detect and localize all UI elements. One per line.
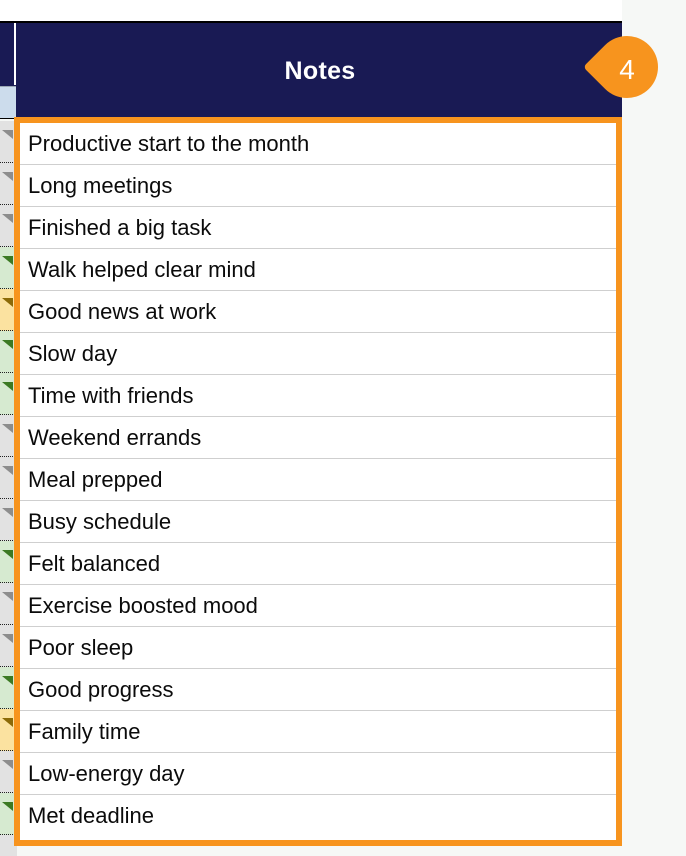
- spreadsheet-view: Notes Productive start to the monthLong …: [0, 0, 686, 856]
- note-cell-text: Weekend errands: [20, 425, 201, 451]
- note-cell-text: Walk helped clear mind: [20, 257, 256, 283]
- table-row[interactable]: Time with friends: [20, 375, 616, 417]
- arrow-down-right-icon: [2, 298, 13, 307]
- note-cell-text: Felt balanced: [20, 551, 160, 577]
- arrow-down-right-icon: [2, 592, 13, 601]
- arrow-down-right-icon: [2, 466, 13, 475]
- arrow-down-right-icon: [2, 382, 13, 391]
- arrow-down-right-icon: [2, 130, 13, 139]
- note-cell-text: Good progress: [20, 677, 174, 703]
- arrow-down-right-icon: [2, 718, 13, 727]
- arrow-down-right-icon: [2, 550, 13, 559]
- note-cell-text: Good news at work: [20, 299, 216, 325]
- note-cell-text: Productive start to the month: [20, 131, 309, 157]
- table-row[interactable]: Slow day: [20, 333, 616, 375]
- note-cell-text: Busy schedule: [20, 509, 171, 535]
- step-marker-badge[interactable]: 4: [596, 36, 658, 114]
- note-cell-text: Slow day: [20, 341, 117, 367]
- arrow-down-right-icon: [2, 340, 13, 349]
- note-cell-text: Time with friends: [20, 383, 193, 409]
- top-blank-strip: [0, 0, 622, 21]
- table-row[interactable]: Productive start to the month: [20, 123, 616, 165]
- step-marker-label: 4: [596, 42, 658, 98]
- arrow-down-right-icon: [2, 802, 13, 811]
- note-cell-text: Family time: [20, 719, 140, 745]
- arrow-down-right-icon: [2, 508, 13, 517]
- note-cell-text: Low-energy day: [20, 761, 185, 787]
- arrow-down-right-icon: [2, 676, 13, 685]
- arrow-down-right-icon: [2, 172, 13, 181]
- note-cell-text: Met deadline: [20, 803, 154, 829]
- table-row[interactable]: Long meetings: [20, 165, 616, 207]
- row-header-selected-cell[interactable]: [0, 86, 16, 119]
- table-row[interactable]: Exercise boosted mood: [20, 585, 616, 627]
- table-row[interactable]: Meal prepped: [20, 459, 616, 501]
- note-cell-text: Exercise boosted mood: [20, 593, 258, 619]
- table-row[interactable]: Met deadline: [20, 795, 616, 837]
- table-row[interactable]: Good news at work: [20, 291, 616, 333]
- note-cell-text: Finished a big task: [20, 215, 211, 241]
- corner-header-cell[interactable]: [0, 23, 16, 85]
- table-row[interactable]: Finished a big task: [20, 207, 616, 249]
- table-row[interactable]: Family time: [20, 711, 616, 753]
- note-cell-text: Long meetings: [20, 173, 172, 199]
- arrow-down-right-icon: [2, 634, 13, 643]
- table-row[interactable]: Poor sleep: [20, 627, 616, 669]
- note-cell-text: Meal prepped: [20, 467, 163, 493]
- table-row[interactable]: Walk helped clear mind: [20, 249, 616, 291]
- table-row[interactable]: Low-energy day: [20, 753, 616, 795]
- table-row[interactable]: Good progress: [20, 669, 616, 711]
- notes-grid[interactable]: Productive start to the monthLong meetin…: [20, 123, 616, 840]
- table-row[interactable]: Busy schedule: [20, 501, 616, 543]
- arrow-down-right-icon: [2, 760, 13, 769]
- arrow-down-right-icon: [2, 256, 13, 265]
- table-row[interactable]: Weekend errands: [20, 417, 616, 459]
- arrow-down-right-icon: [2, 424, 13, 433]
- arrow-down-right-icon: [2, 214, 13, 223]
- notes-column-header-label: Notes: [18, 23, 622, 119]
- note-cell-text: Poor sleep: [20, 635, 133, 661]
- table-row[interactable]: Felt balanced: [20, 543, 616, 585]
